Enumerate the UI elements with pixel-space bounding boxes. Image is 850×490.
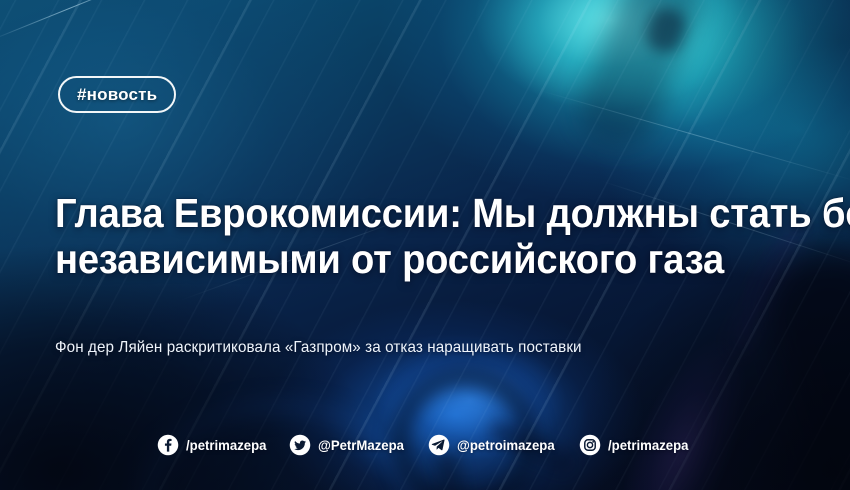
news-card: #новость Глава Еврокомиссии: Мы должны с… [0,0,850,490]
telegram-icon [428,434,450,456]
subtitle: Фон дер Ляйен раскритиковала «Газпром» з… [55,339,758,357]
headline: Глава Еврокомиссии: Мы должны стать боле… [55,190,734,282]
social-link-twitter[interactable]: @PetrMazepa [289,434,409,456]
facebook-icon [157,434,179,456]
social-link-instagram[interactable]: /petrimazepa [579,434,694,456]
social-link-facebook[interactable]: /petrimazepa [157,434,272,456]
instagram-icon [579,434,601,456]
twitter-icon [289,434,311,456]
twitter-handle: @PetrMazepa [318,437,404,453]
headline-line-1: Глава Еврокомиссии: Мы должны стать боле… [55,190,734,236]
card-content: #новость Глава Еврокомиссии: Мы должны с… [0,0,850,490]
news-tag-badge[interactable]: #новость [58,76,176,113]
telegram-handle: @petroimazepa [457,437,555,453]
news-tag-label: #новость [77,85,157,105]
social-links-row: /petrimazepa @PetrMazepa [0,434,850,456]
social-link-telegram[interactable]: @petroimazepa [428,434,561,456]
facebook-handle: /petrimazepa [186,437,266,453]
instagram-handle: /petrimazepa [608,437,688,453]
headline-line-2: независимыми от российского газа [55,236,734,282]
